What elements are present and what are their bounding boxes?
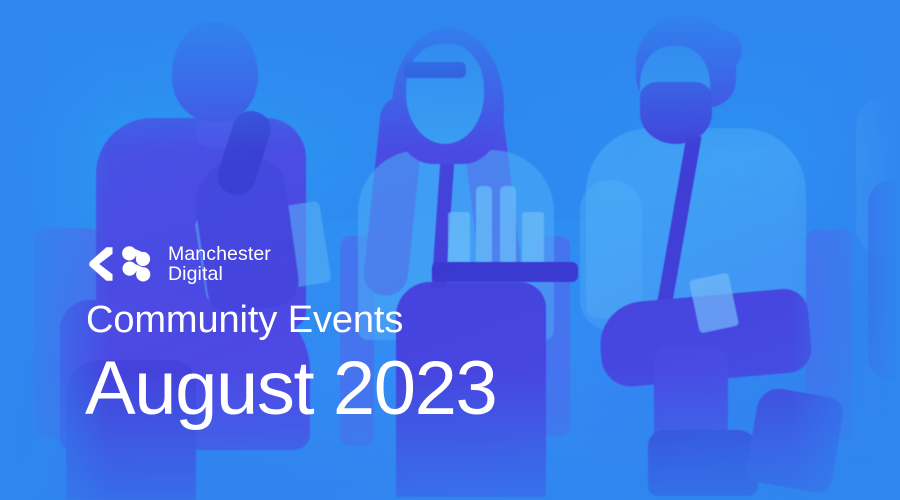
event-banner: Manchester Digital Community Events Augu…: [0, 0, 900, 500]
brand-wordmark-line-1: Manchester: [168, 244, 271, 264]
brand-lockup: Manchester Digital: [84, 244, 704, 284]
banner-headline: August 2023: [85, 348, 704, 430]
banner-eyebrow: Community Events: [86, 298, 704, 342]
brand-wordmark-line-2: Digital: [168, 264, 271, 284]
manchester-digital-logo-icon: [84, 244, 156, 284]
brand-wordmark: Manchester Digital: [168, 244, 271, 284]
edge-fade-top: [0, 0, 900, 150]
banner-content: Manchester Digital Community Events Augu…: [84, 244, 704, 430]
